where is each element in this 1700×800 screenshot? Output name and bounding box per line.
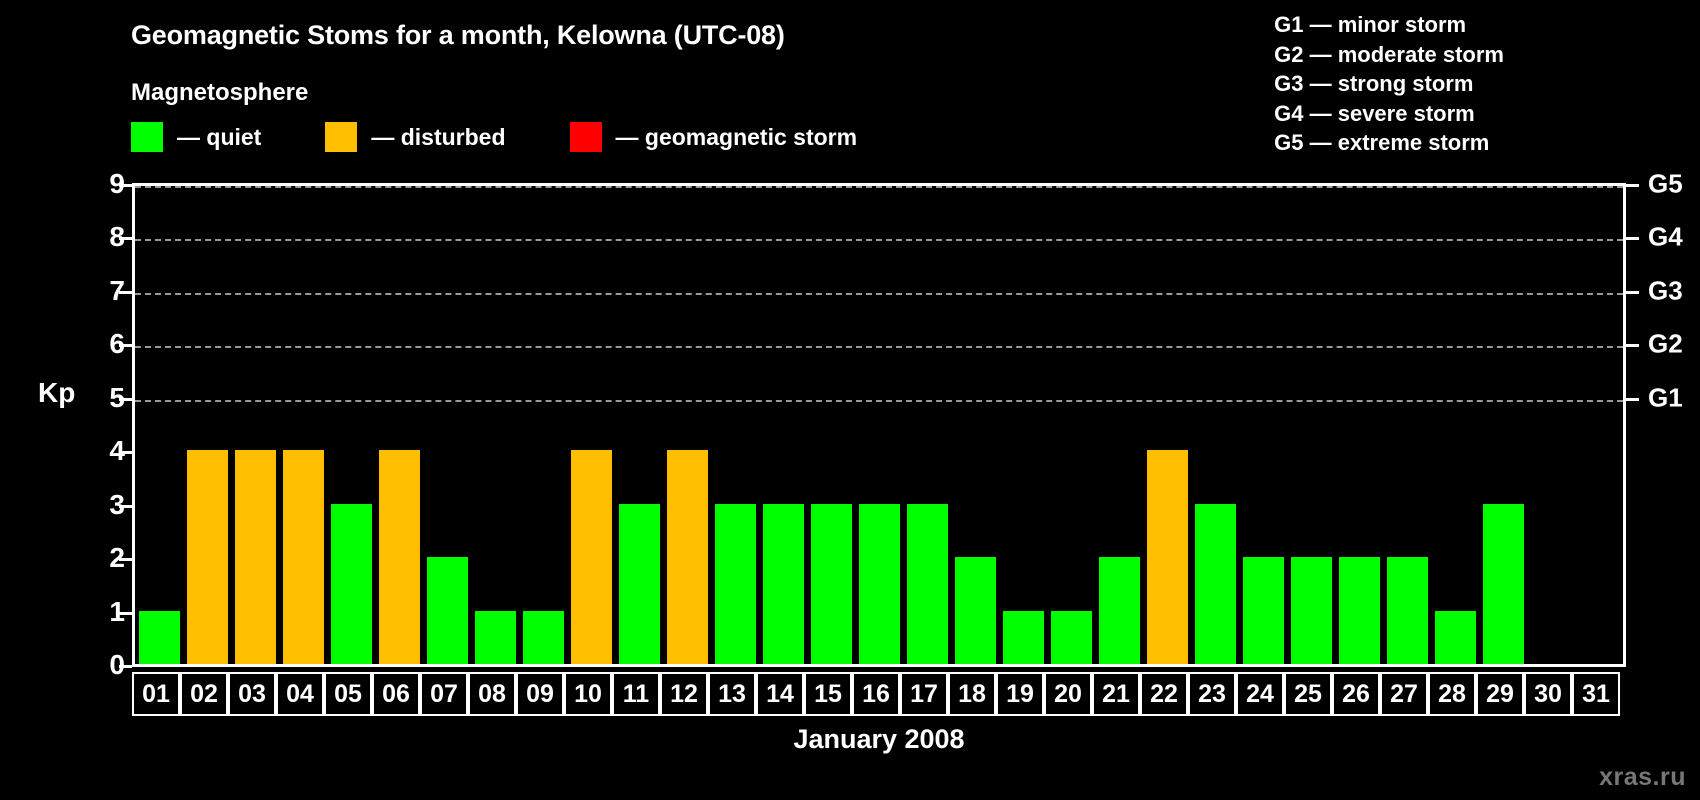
day-label-13[interactable]: 13	[708, 672, 756, 716]
g-tick-label-G4: G4	[1648, 222, 1683, 253]
day-label-08[interactable]: 08	[468, 672, 516, 716]
day-label-07[interactable]: 07	[420, 672, 468, 716]
bar-fill	[763, 504, 804, 664]
day-label-11[interactable]: 11	[612, 672, 660, 716]
bar-day-07[interactable]	[427, 557, 468, 664]
day-label-06[interactable]: 06	[372, 672, 420, 716]
x-axis-title: January 2008	[132, 724, 1626, 755]
day-label-14[interactable]: 14	[756, 672, 804, 716]
y-tick-label-8: 8	[85, 221, 125, 253]
day-label-18[interactable]: 18	[948, 672, 996, 716]
bar-fill	[907, 504, 948, 664]
bar-day-24[interactable]	[1243, 557, 1284, 664]
g-tick-G5	[1626, 184, 1639, 187]
bar-fill	[331, 504, 372, 664]
y-tick-label-5: 5	[85, 382, 125, 414]
bar-fill	[811, 504, 852, 664]
y-tick-label-0: 0	[85, 649, 125, 681]
y-tick-label-6: 6	[85, 328, 125, 360]
bar-day-19[interactable]	[1003, 611, 1044, 664]
bar-day-01[interactable]	[139, 611, 180, 664]
bar-day-10[interactable]	[571, 450, 612, 664]
bar-day-21[interactable]	[1099, 557, 1140, 664]
y-tick-label-3: 3	[85, 489, 125, 521]
day-label-30[interactable]: 30	[1524, 672, 1572, 716]
y-tick-label-9: 9	[85, 168, 125, 200]
bar-fill	[619, 504, 660, 664]
bar-day-09[interactable]	[523, 611, 564, 664]
bar-day-17[interactable]	[907, 504, 948, 664]
g-tick-G4	[1626, 237, 1639, 240]
day-label-31[interactable]: 31	[1572, 672, 1620, 716]
bar-fill	[571, 450, 612, 664]
bar-day-22[interactable]	[1147, 450, 1188, 664]
bar-day-23[interactable]	[1195, 504, 1236, 664]
bar-day-26[interactable]	[1339, 557, 1380, 664]
bars-layer	[135, 186, 1623, 664]
day-label-27[interactable]: 27	[1380, 672, 1428, 716]
bar-fill	[1051, 611, 1092, 664]
day-label-21[interactable]: 21	[1092, 672, 1140, 716]
day-label-01[interactable]: 01	[132, 672, 180, 716]
bar-fill	[1195, 504, 1236, 664]
g-tick-label-G3: G3	[1648, 275, 1683, 306]
bar-day-03[interactable]	[235, 450, 276, 664]
g-tick-G1	[1626, 398, 1639, 401]
plot-area	[132, 183, 1626, 667]
bar-fill	[475, 611, 516, 664]
bar-day-11[interactable]	[619, 504, 660, 664]
y-tick-label-7: 7	[85, 275, 125, 307]
day-label-10[interactable]: 10	[564, 672, 612, 716]
bar-day-18[interactable]	[955, 557, 996, 664]
bar-fill	[1291, 557, 1332, 664]
day-label-02[interactable]: 02	[180, 672, 228, 716]
y-tick-label-4: 4	[85, 435, 125, 467]
bar-day-05[interactable]	[331, 504, 372, 664]
bar-fill	[235, 450, 276, 664]
watermark: xras.ru	[1599, 763, 1686, 792]
bar-fill	[1387, 557, 1428, 664]
bar-fill	[1147, 450, 1188, 664]
day-label-19[interactable]: 19	[996, 672, 1044, 716]
bar-fill	[379, 450, 420, 664]
day-label-03[interactable]: 03	[228, 672, 276, 716]
g-tick-G2	[1626, 344, 1639, 347]
day-label-15[interactable]: 15	[804, 672, 852, 716]
bar-fill	[1243, 557, 1284, 664]
bar-fill	[283, 450, 324, 664]
bar-fill	[1003, 611, 1044, 664]
bar-fill	[1483, 504, 1524, 664]
day-label-24[interactable]: 24	[1236, 672, 1284, 716]
bar-day-13[interactable]	[715, 504, 756, 664]
bar-fill	[1339, 557, 1380, 664]
y-tick-label-1: 1	[85, 596, 125, 628]
day-label-22[interactable]: 22	[1140, 672, 1188, 716]
g-tick-G3	[1626, 291, 1639, 294]
bar-day-28[interactable]	[1435, 611, 1476, 664]
bar-fill	[427, 557, 468, 664]
y-axis-title: Kp	[38, 377, 75, 409]
bar-fill	[523, 611, 564, 664]
bar-fill	[667, 450, 708, 664]
bar-fill	[187, 450, 228, 664]
bar-day-04[interactable]	[283, 450, 324, 664]
y-tick-label-2: 2	[85, 542, 125, 574]
day-label-17[interactable]: 17	[900, 672, 948, 716]
bar-day-12[interactable]	[667, 450, 708, 664]
bar-day-20[interactable]	[1051, 611, 1092, 664]
bar-day-29[interactable]	[1483, 504, 1524, 664]
bar-day-06[interactable]	[379, 450, 420, 664]
bar-day-15[interactable]	[811, 504, 852, 664]
bar-day-25[interactable]	[1291, 557, 1332, 664]
bar-fill	[1435, 611, 1476, 664]
g-tick-label-G1: G1	[1648, 382, 1683, 413]
day-label-05[interactable]: 05	[324, 672, 372, 716]
bar-fill	[955, 557, 996, 664]
bar-day-16[interactable]	[859, 504, 900, 664]
day-label-26[interactable]: 26	[1332, 672, 1380, 716]
bar-day-02[interactable]	[187, 450, 228, 664]
bar-day-14[interactable]	[763, 504, 804, 664]
day-label-28[interactable]: 28	[1428, 672, 1476, 716]
day-label-23[interactable]: 23	[1188, 672, 1236, 716]
g-tick-label-G5: G5	[1648, 169, 1683, 200]
bar-fill	[859, 504, 900, 664]
bar-fill	[1099, 557, 1140, 664]
day-label-29[interactable]: 29	[1476, 672, 1524, 716]
g-tick-label-G2: G2	[1648, 329, 1683, 360]
bar-fill	[139, 611, 180, 664]
day-label-12[interactable]: 12	[660, 672, 708, 716]
day-label-04[interactable]: 04	[276, 672, 324, 716]
day-label-20[interactable]: 20	[1044, 672, 1092, 716]
bar-fill	[715, 504, 756, 664]
x-axis-day-labels: 0102030405060708091011121314151617181920…	[132, 672, 1626, 716]
bar-day-08[interactable]	[475, 611, 516, 664]
day-label-16[interactable]: 16	[852, 672, 900, 716]
day-label-09[interactable]: 09	[516, 672, 564, 716]
day-label-25[interactable]: 25	[1284, 672, 1332, 716]
bar-day-27[interactable]	[1387, 557, 1428, 664]
